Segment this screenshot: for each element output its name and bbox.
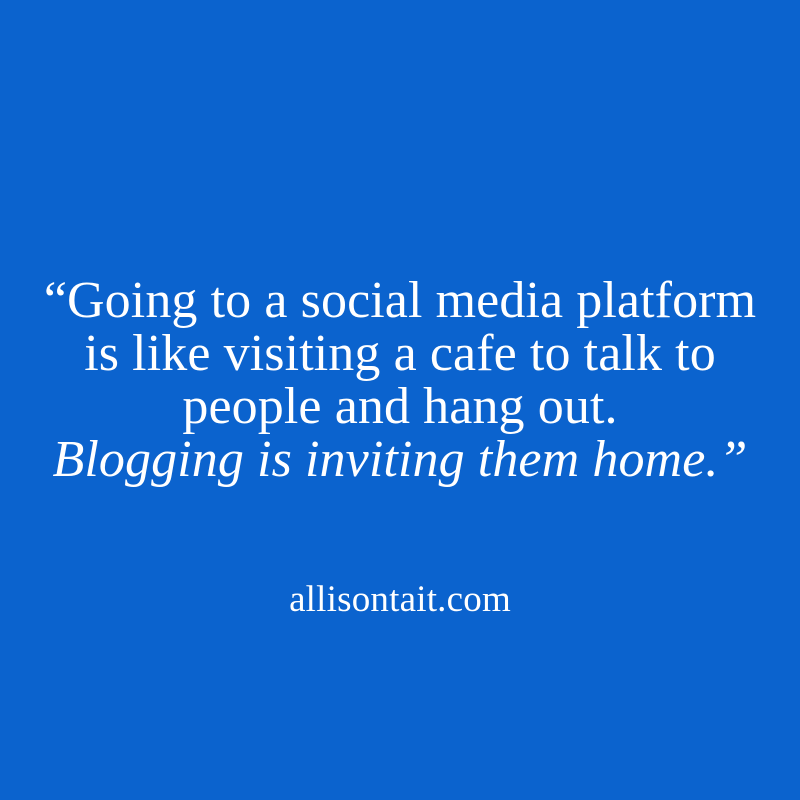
quote-line-2-text: is like visiting a cafe to talk to [84, 325, 716, 382]
quote-line-1: “Going to a social media platform [40, 274, 760, 327]
closing-quote-mark: ” [719, 431, 748, 488]
attribution-website: allisontait.com [289, 579, 511, 621]
quote-line-1-text: Going to a social media platform [67, 272, 756, 329]
quote-line-3: people and hang out. [40, 380, 760, 433]
quote-line-2: is like visiting a cafe to talk to [40, 327, 760, 380]
quote-line-4: Blogging is inviting them home.” [40, 433, 760, 486]
quote-card: “Going to a social media platform is lik… [0, 0, 800, 800]
opening-quote-mark: “ [44, 272, 67, 329]
quote-line-4-text: Blogging is inviting them home. [52, 431, 718, 488]
quote-text-block: “Going to a social media platform is lik… [40, 274, 760, 486]
quote-line-3-text: people and hang out. [182, 378, 617, 435]
